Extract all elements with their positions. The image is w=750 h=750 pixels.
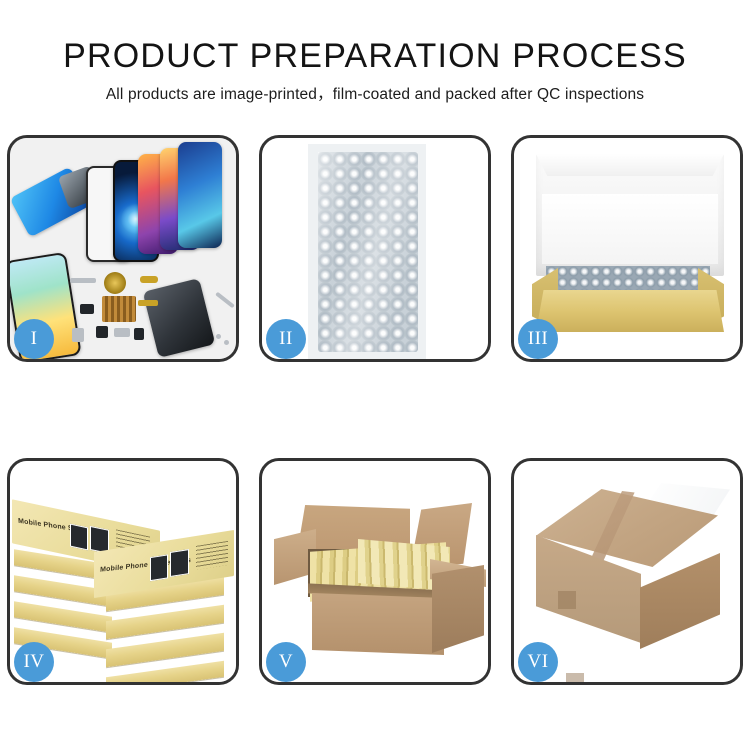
page-header: PRODUCT PREPARATION PROCESS All products… (0, 0, 750, 106)
box-window-image (170, 549, 189, 577)
small-button-part (134, 328, 144, 340)
carton-tab-mark (566, 673, 584, 682)
speaker-coil-part (104, 272, 126, 294)
page-subtitle: All products are image-printed，film-coat… (0, 84, 750, 106)
box-window-image (70, 524, 88, 551)
lcd-screen-navy (178, 142, 222, 248)
chip-array-part (102, 296, 136, 322)
ic-chip-part (96, 326, 108, 338)
ribbon-cable-part (138, 300, 158, 306)
screw-part (224, 340, 229, 345)
kraft-box-front (536, 290, 724, 332)
step-badge-2: II (266, 319, 306, 359)
box-spec-lines (196, 541, 228, 570)
process-row-bottom: Mobile Phone Spare Parts Mobile Phone Sp… (7, 458, 743, 685)
step-panel-3[interactable]: III (511, 135, 743, 362)
foam-sheet (542, 194, 718, 264)
sim-tray-part (72, 328, 84, 342)
step-badge-1: I (14, 319, 54, 359)
process-row-top: I II III (7, 135, 743, 362)
camera-module-part (80, 304, 94, 314)
stacked-box (14, 601, 112, 633)
vibrator-part (114, 328, 130, 337)
step-panel-6[interactable]: VI (511, 458, 743, 685)
page-title: PRODUCT PREPARATION PROCESS (0, 36, 750, 76)
carton-front-face (312, 593, 444, 655)
step-badge-5: V (266, 642, 306, 682)
box-window-image (150, 554, 168, 581)
process-steps-grid: I II III (0, 135, 750, 685)
step-panel-2[interactable]: II (259, 135, 491, 362)
carton-tab-mark (558, 591, 576, 609)
step-panel-5[interactable]: V (259, 458, 491, 685)
step-panel-4[interactable]: Mobile Phone Spare Parts Mobile Phone Sp… (7, 458, 239, 685)
gold-connector-part (140, 276, 158, 283)
step-badge-6: VI (518, 642, 558, 682)
bubble-wrap-gloss (318, 152, 418, 352)
step-badge-4: IV (14, 642, 54, 682)
flex-cable-part (70, 278, 96, 283)
step-panel-1[interactable]: I (7, 135, 239, 362)
step-badge-3: III (518, 319, 558, 359)
screw-part (216, 334, 221, 339)
